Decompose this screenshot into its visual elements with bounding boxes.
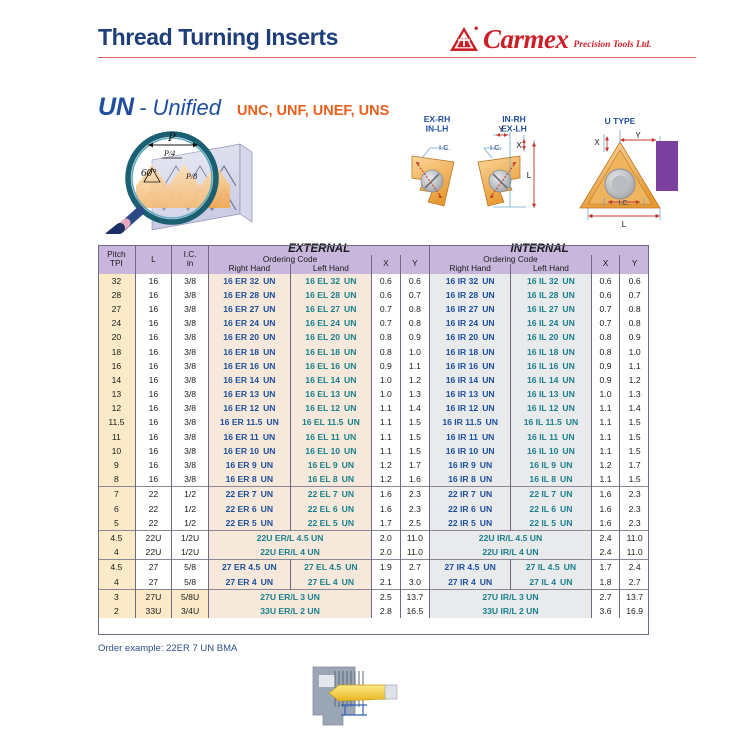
order-code: 16 IR 11.5 xyxy=(442,417,481,427)
table-row: 233U3/4U33U ER/L 2 UN2.816.533U IR/L 2 U… xyxy=(98,604,649,618)
order-code: 16 IL 20 xyxy=(527,332,558,342)
cell-l: 27U xyxy=(135,589,171,604)
order-code-suffix: UN xyxy=(562,290,574,300)
cell-internal-left-hand: 27 IL 4.5UN xyxy=(511,560,592,575)
cell-internal-x: 0.7 xyxy=(591,316,620,330)
cell-internal-y: 2.4 xyxy=(620,560,649,575)
cell-pitch: 4 xyxy=(98,545,135,560)
cell-internal-left-hand: 16 IL 14UN xyxy=(511,373,592,387)
cell-external-y: 2.5 xyxy=(400,516,430,531)
th-ext-left-hand: Left Hand xyxy=(290,264,371,274)
cell-pitch: 11.5 xyxy=(98,415,135,429)
cell-l: 16 xyxy=(135,330,171,344)
order-code-suffix: UN xyxy=(562,432,574,442)
cell-l: 22U xyxy=(135,545,171,560)
cell-external-right-hand: 16 ER 16UN xyxy=(209,359,291,373)
cell-external-right-hand: 16 ER 8UN xyxy=(209,472,291,487)
cell-internal-right-hand: 22 IR 5UN xyxy=(430,516,511,531)
cell-internal-right-hand: 22 IR 6UN xyxy=(430,502,511,516)
insert-specification-table: PitchTPI L I.C.in EXTERNAL INTERNAL Orde… xyxy=(98,245,649,618)
cell-internal-x: 0.6 xyxy=(591,288,620,302)
order-code-suffix: UN xyxy=(480,460,492,470)
cell-pitch: 18 xyxy=(98,344,135,358)
cell-l: 16 xyxy=(135,401,171,415)
cell-external-y: 0.9 xyxy=(400,330,430,344)
order-code-suffix: UN xyxy=(344,389,356,399)
insert-geometry-diagrams: EX-RH IN-LH I.C. IN-RH EX-LH I.C. xyxy=(398,112,698,234)
order-code-suffix: UN xyxy=(482,276,494,286)
table-row: 6221/222 ER 6UN22 EL 6UN1.62.322 IR 6UN2… xyxy=(98,502,649,516)
table-row: 8163/816 ER 8UN16 EL 8UN1.21.616 IR 8UN1… xyxy=(98,472,649,487)
cell-external-y: 16.5 xyxy=(400,604,430,618)
cell-external-y: 0.8 xyxy=(400,316,430,330)
cell-internal-left-hand: 22 IL 7UN xyxy=(511,487,592,502)
cell-external-left-hand: 22 EL 7UN xyxy=(290,487,371,502)
order-code-suffix: UN xyxy=(482,389,494,399)
cell-internal-left-hand: 16 IL 20UN xyxy=(511,330,592,344)
cell-ic: 3/8 xyxy=(172,288,209,302)
order-code: 16 ER 24 xyxy=(223,318,259,328)
cell-external-y: 2.3 xyxy=(400,502,430,516)
order-code-suffix: UN xyxy=(482,290,494,300)
diagram-ic-label-2: I.C. xyxy=(490,143,502,152)
cell-pitch: 3 xyxy=(98,589,135,604)
cell-internal-code: 27U IR/L 3 UN xyxy=(430,589,592,604)
cell-external-left-hand: 16 EL 14UN xyxy=(290,373,371,387)
order-code: 22 IL 7 xyxy=(529,489,556,499)
order-code: 16 ER 27 xyxy=(223,304,259,314)
cell-external-right-hand: 16 ER 24UN xyxy=(209,316,291,330)
cell-internal-x: 2.4 xyxy=(591,530,620,545)
cell-l: 16 xyxy=(135,288,171,302)
order-code: 16 EL 16 xyxy=(305,361,340,371)
cell-internal-left-hand: 16 IL 10UN xyxy=(511,444,592,458)
cell-internal-left-hand: 16 IL 12UN xyxy=(511,401,592,415)
table-row: 5221/222 ER 5UN22 EL 5UN1.72.522 IR 5UN2… xyxy=(98,516,649,531)
order-code: 22 IR 6 xyxy=(448,504,476,514)
th-int-x: X xyxy=(591,255,620,274)
order-code-suffix: UN xyxy=(562,389,574,399)
cell-pitch: 24 xyxy=(98,316,135,330)
order-code: 16 IR 18 xyxy=(446,347,479,357)
order-code: 16 IR 12 xyxy=(446,403,479,413)
cell-ic: 1/2U xyxy=(172,530,209,545)
cell-external-code: 33U ER/L 2 UN xyxy=(209,604,372,618)
cell-pitch: 10 xyxy=(98,444,135,458)
cell-internal-x: 0.9 xyxy=(591,359,620,373)
cell-internal-x: 1.6 xyxy=(591,487,620,502)
order-code: 27 ER 4.5 xyxy=(222,562,260,572)
cell-internal-x: 1.1 xyxy=(591,401,620,415)
cell-external-left-hand: 16 EL 10UN xyxy=(290,444,371,458)
order-code: 27 IL 4 xyxy=(529,577,556,587)
catalog-page: Thread Turning Inserts Carmex Precision … xyxy=(0,0,747,747)
order-code-suffix: UN xyxy=(480,489,492,499)
cell-internal-x: 0.8 xyxy=(591,330,620,344)
order-code: 16 EL 20 xyxy=(305,332,340,342)
cell-internal-y: 1.5 xyxy=(620,415,649,429)
cell-l: 16 xyxy=(135,415,171,429)
order-code: 16 EL 10 xyxy=(305,446,340,456)
cell-internal-right-hand: 16 IR 13UN xyxy=(430,387,511,401)
cell-external-x: 0.8 xyxy=(372,344,401,358)
cell-l: 27 xyxy=(135,574,171,589)
order-code-suffix: UN xyxy=(342,577,354,587)
cell-internal-right-hand: 16 IR 27UN xyxy=(430,302,511,316)
order-code: 16 IL 32 xyxy=(527,276,558,286)
order-code-suffix: UN xyxy=(261,489,273,499)
th-pitch-l2: TPI xyxy=(110,258,123,268)
order-code-suffix: UN xyxy=(560,489,572,499)
cell-internal-x: 2.7 xyxy=(591,589,620,604)
order-code-suffix: UN xyxy=(342,504,354,514)
order-code: 16 IL 18 xyxy=(527,347,558,357)
order-code: 16 EL 9 xyxy=(308,460,338,470)
diagram-y-label-1: Y xyxy=(498,125,504,134)
cell-external-y: 1.5 xyxy=(400,415,430,429)
order-code-suffix: UN xyxy=(344,332,356,342)
th-ext-right-hand: Right Hand xyxy=(209,264,291,274)
cell-external-y: 2.7 xyxy=(400,560,430,575)
cell-external-x: 1.2 xyxy=(372,458,401,472)
cell-l: 16 xyxy=(135,344,171,358)
order-code: 22 IL 5 xyxy=(529,518,556,528)
cell-internal-left-hand: 16 IL 32UN xyxy=(511,274,592,288)
cell-pitch: 14 xyxy=(98,373,135,387)
cell-l: 16 xyxy=(135,458,171,472)
cell-pitch: 28 xyxy=(98,288,135,302)
cell-internal-y: 2.3 xyxy=(620,516,649,531)
cell-internal-left-hand: 27 IL 4UN xyxy=(511,574,592,589)
cell-l: 33U xyxy=(135,604,171,618)
order-code-suffix: UN xyxy=(261,577,273,587)
order-code: 16 EL 11.5 xyxy=(302,417,343,427)
order-code: 27 IL 4.5 xyxy=(526,562,560,572)
cell-external-x: 1.6 xyxy=(372,487,401,502)
cell-external-right-hand: 16 ER 18UN xyxy=(209,344,291,358)
order-code-suffix: UN xyxy=(261,504,273,514)
order-code-suffix: UN xyxy=(344,403,356,413)
diagram-label-u-type: U TYPE xyxy=(605,116,636,126)
order-code-suffix: UN xyxy=(263,446,275,456)
table-row: 27163/816 ER 27UN16 EL 27UN0.70.816 IR 2… xyxy=(98,302,649,316)
diagram-label-ex-rh-line2: IN-LH xyxy=(426,124,449,134)
cell-internal-left-hand: 16 IL 9UN xyxy=(511,458,592,472)
cell-internal-x: 1.1 xyxy=(591,430,620,444)
order-code-suffix: UN xyxy=(482,375,494,385)
order-code-suffix: UN xyxy=(482,332,494,342)
cell-external-left-hand: 22 EL 6UN xyxy=(290,502,371,516)
cell-ic: 3/8 xyxy=(172,330,209,344)
order-code-suffix: UN xyxy=(480,577,492,587)
cell-ic: 1/2U xyxy=(172,545,209,560)
order-code: 16 EL 27 xyxy=(305,304,340,314)
tool-illustration xyxy=(305,663,415,733)
order-code-suffix: UN xyxy=(342,460,354,470)
order-code-suffix: UN xyxy=(482,432,494,442)
cell-l: 16 xyxy=(135,430,171,444)
cell-external-y: 0.8 xyxy=(400,302,430,316)
diagram-y-label-2: Y xyxy=(635,131,641,140)
order-code: 22 ER 7 xyxy=(226,489,257,499)
order-code-suffix: UN xyxy=(263,432,275,442)
order-code-suffix: UN xyxy=(482,403,494,413)
order-code-suffix: UN xyxy=(344,290,356,300)
cell-external-right-hand: 27 ER 4UN xyxy=(209,574,291,589)
order-code-suffix: UN xyxy=(344,361,356,371)
cell-internal-y: 0.9 xyxy=(620,330,649,344)
carmex-logo: Carmex Precision Tools Ltd. xyxy=(449,21,652,53)
cell-external-left-hand: 16 EL 18UN xyxy=(290,344,371,358)
cell-ic: 1/2 xyxy=(172,487,209,502)
cell-external-x: 0.6 xyxy=(372,274,401,288)
cell-ic: 3/8 xyxy=(172,401,209,415)
order-code: 16 ER 13 xyxy=(223,389,259,399)
cell-external-x: 1.7 xyxy=(372,516,401,531)
order-code-suffix: UN xyxy=(344,304,356,314)
cell-external-right-hand: 16 ER 13UN xyxy=(209,387,291,401)
order-code: 16 ER 10 xyxy=(223,446,259,456)
order-code: 22 ER 6 xyxy=(226,504,257,514)
order-code-suffix: UN xyxy=(342,518,354,528)
cell-l: 22U xyxy=(135,530,171,545)
cell-internal-y: 1.5 xyxy=(620,472,649,487)
cell-external-y: 0.7 xyxy=(400,288,430,302)
cell-external-left-hand: 16 EL 28UN xyxy=(290,288,371,302)
cell-l: 16 xyxy=(135,359,171,373)
cell-internal-left-hand: 16 IL 11.5UN xyxy=(511,415,592,429)
cell-internal-left-hand: 16 IL 13UN xyxy=(511,387,592,401)
cell-l: 16 xyxy=(135,472,171,487)
cell-ic: 3/8 xyxy=(172,316,209,330)
order-code: 16 IL 12 xyxy=(527,403,558,413)
order-code-suffix: UN xyxy=(263,332,275,342)
cell-external-x: 1.1 xyxy=(372,415,401,429)
cell-external-left-hand: 16 EL 8UN xyxy=(290,472,371,487)
cell-ic: 3/8 xyxy=(172,430,209,444)
cell-external-x: 2.8 xyxy=(372,604,401,618)
order-code-suffix: UN xyxy=(486,417,498,427)
cell-ic: 5/8 xyxy=(172,574,209,589)
order-code-suffix: UN xyxy=(345,562,357,572)
order-code-suffix: UN xyxy=(344,347,356,357)
order-code: 16 IL 8 xyxy=(529,474,556,484)
order-code: 27 EL 4 xyxy=(308,577,338,587)
cell-internal-code: 33U IR/L 2 UN xyxy=(430,604,592,618)
cell-internal-y: 2.3 xyxy=(620,487,649,502)
cell-l: 22 xyxy=(135,487,171,502)
order-code-suffix: UN xyxy=(480,518,492,528)
cell-internal-right-hand: 16 IR 20UN xyxy=(430,330,511,344)
cell-ic: 3/4U xyxy=(172,604,209,618)
order-code-suffix: UN xyxy=(560,474,572,484)
cell-external-x: 1.0 xyxy=(372,373,401,387)
order-code: 16 EL 11 xyxy=(306,432,340,442)
cell-internal-right-hand: 16 IR 14UN xyxy=(430,373,511,387)
order-code: 16 IL 28 xyxy=(527,290,558,300)
cell-external-code: 27U ER/L 3 UN xyxy=(209,589,372,604)
cell-internal-right-hand: 27 IR 4.5UN xyxy=(430,560,511,575)
cell-l: 16 xyxy=(135,373,171,387)
th-int-left-hand: Left Hand xyxy=(511,264,592,274)
order-code-suffix: UN xyxy=(564,562,576,572)
order-code: 22 IL 6 xyxy=(529,504,556,514)
order-code-suffix: UN xyxy=(482,318,494,328)
cell-internal-y: 11.0 xyxy=(620,545,649,560)
cell-external-y: 1.7 xyxy=(400,458,430,472)
cell-external-x: 0.7 xyxy=(372,302,401,316)
th-ext-y: Y xyxy=(400,255,430,274)
cell-external-left-hand: 16 EL 11.5UN xyxy=(290,415,371,429)
cell-external-x: 2.5 xyxy=(372,589,401,604)
order-code: 27 ER 4 xyxy=(226,577,257,587)
order-code-suffix: UN xyxy=(480,504,492,514)
thread-profile-illustration: P P/4 P/8 60° xyxy=(100,126,335,234)
cell-external-y: 3.0 xyxy=(400,574,430,589)
order-code: 16 EL 12 xyxy=(305,403,340,413)
series-standards: UNC, UNF, UNEF, UNS xyxy=(237,103,389,119)
order-code-suffix: UN xyxy=(344,375,356,385)
cell-internal-y: 13.7 xyxy=(620,589,649,604)
cell-internal-right-hand: 22 IR 7UN xyxy=(430,487,511,502)
order-code: 16 IL 27 xyxy=(527,304,558,314)
cell-internal-right-hand: 16 IR 32UN xyxy=(430,274,511,288)
table-row: 13163/816 ER 13UN16 EL 13UN1.01.316 IR 1… xyxy=(98,387,649,401)
cell-external-code: 22U ER/L 4 UN xyxy=(209,545,372,560)
cell-l: 22 xyxy=(135,516,171,531)
order-code: 22 IR 7 xyxy=(448,489,476,499)
cell-internal-x: 1.1 xyxy=(591,444,620,458)
cell-external-y: 1.1 xyxy=(400,359,430,373)
table-row: 4275/827 ER 4UN27 EL 4UN2.13.027 IR 4UN2… xyxy=(98,574,649,589)
cell-external-left-hand: 16 EL 20UN xyxy=(290,330,371,344)
cell-internal-y: 0.8 xyxy=(620,302,649,316)
table-row: 422U1/2U22U ER/L 4 UN2.011.022U IR/L 4 U… xyxy=(98,545,649,560)
cell-ic: 3/8 xyxy=(172,359,209,373)
cell-external-left-hand: 16 EL 13UN xyxy=(290,387,371,401)
order-code-suffix: UN xyxy=(562,375,574,385)
cell-internal-right-hand: 16 IR 11.5UN xyxy=(430,415,511,429)
order-code-suffix: UN xyxy=(562,361,574,371)
diagram-label-ex-rh-line1: EX-RH xyxy=(424,114,450,124)
table-row: 9163/816 ER 9UN16 EL 9UN1.21.716 IR 9UN1… xyxy=(98,458,649,472)
cell-external-x: 1.1 xyxy=(372,430,401,444)
order-code: 16 IL 14 xyxy=(527,375,558,385)
cell-internal-x: 1.6 xyxy=(591,516,620,531)
cell-external-right-hand: 27 ER 4.5UN xyxy=(209,560,291,575)
cell-pitch: 4 xyxy=(98,574,135,589)
cell-pitch: 32 xyxy=(98,274,135,288)
cell-internal-left-hand: 16 IL 16UN xyxy=(511,359,592,373)
order-code-suffix: UN xyxy=(263,389,275,399)
th-external: EXTERNAL xyxy=(209,245,430,255)
table-row: 4.522U1/2U22U ER/L 4.5 UN2.011.022U IR/L… xyxy=(98,530,649,545)
cell-external-right-hand: 16 ER 10UN xyxy=(209,444,291,458)
cell-internal-x: 1.8 xyxy=(591,574,620,589)
order-code: 16 EL 32 xyxy=(305,276,340,286)
cell-external-x: 0.8 xyxy=(372,330,401,344)
cell-external-y: 11.0 xyxy=(400,530,430,545)
table-row: 12163/816 ER 12UN16 EL 12UN1.11.416 IR 1… xyxy=(98,401,649,415)
cell-external-right-hand: 22 ER 7UN xyxy=(209,487,291,502)
order-code: 16 EL 24 xyxy=(305,318,340,328)
cell-external-y: 0.6 xyxy=(400,274,430,288)
table-row: 20163/816 ER 20UN16 EL 20UN0.80.916 IR 2… xyxy=(98,330,649,344)
order-code: 16 ER 28 xyxy=(223,290,259,300)
order-code: 16 IR 9 xyxy=(448,460,476,470)
diagram-ic-label-1: I.C. xyxy=(439,143,451,152)
cell-l: 22 xyxy=(135,502,171,516)
cell-l: 27 xyxy=(135,560,171,575)
table-row: 24163/816 ER 24UN16 EL 24UN0.70.816 IR 2… xyxy=(98,316,649,330)
diagram-ic-label-3: I.C. xyxy=(619,200,630,207)
order-code-suffix: UN xyxy=(560,577,572,587)
order-code: 22 EL 5 xyxy=(308,518,338,528)
th-ic-l2: in xyxy=(187,258,193,268)
cell-external-y: 13.7 xyxy=(400,589,430,604)
cell-external-x: 2.0 xyxy=(372,530,401,545)
order-code-suffix: UN xyxy=(562,403,574,413)
cell-ic: 5/8U xyxy=(172,589,209,604)
order-code: 16 ER 18 xyxy=(223,347,259,357)
cell-internal-y: 1.1 xyxy=(620,359,649,373)
order-code-suffix: UN xyxy=(261,518,273,528)
cell-internal-y: 2.3 xyxy=(620,502,649,516)
cell-internal-left-hand: 22 IL 6UN xyxy=(511,502,592,516)
cell-internal-x: 0.6 xyxy=(591,274,620,288)
page-side-tab xyxy=(656,141,678,191)
cell-pitch: 2 xyxy=(98,604,135,618)
cell-external-right-hand: 16 ER 14UN xyxy=(209,373,291,387)
cell-internal-y: 0.6 xyxy=(620,274,649,288)
order-code-suffix: UN xyxy=(566,417,578,427)
cell-external-y: 1.6 xyxy=(400,472,430,487)
cell-external-x: 1.1 xyxy=(372,444,401,458)
order-code: 16 ER 14 xyxy=(223,375,259,385)
cell-external-code: 22U ER/L 4.5 UN xyxy=(209,530,372,545)
order-code: 16 EL 14 xyxy=(305,375,340,385)
order-code: 16 IR 24 xyxy=(446,318,479,328)
cell-external-x: 1.9 xyxy=(372,560,401,575)
cell-external-right-hand: 16 ER 32UN xyxy=(209,274,291,288)
cell-internal-x: 2.4 xyxy=(591,545,620,560)
series-name: - Unified xyxy=(139,95,221,121)
order-code-suffix: UN xyxy=(342,489,354,499)
cell-internal-right-hand: 27 IR 4UN xyxy=(430,574,511,589)
cell-ic: 3/8 xyxy=(172,344,209,358)
cell-internal-x: 3.6 xyxy=(591,604,620,618)
cell-internal-y: 11.0 xyxy=(620,530,649,545)
cell-external-left-hand: 16 EL 12UN xyxy=(290,401,371,415)
cell-external-left-hand: 27 EL 4UN xyxy=(290,574,371,589)
order-code-suffix: UN xyxy=(263,375,275,385)
cell-external-left-hand: 16 EL 16UN xyxy=(290,359,371,373)
table-row: 16163/816 ER 16UN16 EL 16UN0.91.116 IR 1… xyxy=(98,359,649,373)
order-code: 16 EL 8 xyxy=(308,474,338,484)
order-code: 16 ER 16 xyxy=(223,361,259,371)
cell-external-left-hand: 16 EL 32UN xyxy=(290,274,371,288)
thread-p4-label: P/4 xyxy=(163,149,175,158)
cell-pitch: 12 xyxy=(98,401,135,415)
brand-tagline: Precision Tools Ltd. xyxy=(574,37,652,53)
cell-ic: 3/8 xyxy=(172,415,209,429)
cell-internal-y: 0.8 xyxy=(620,316,649,330)
cell-pitch: 13 xyxy=(98,387,135,401)
cell-internal-left-hand: 16 IL 27UN xyxy=(511,302,592,316)
cell-external-right-hand: 16 ER 27UN xyxy=(209,302,291,316)
diagram-l-label-1: L xyxy=(527,171,532,180)
order-code: 22 IR 5 xyxy=(448,518,476,528)
